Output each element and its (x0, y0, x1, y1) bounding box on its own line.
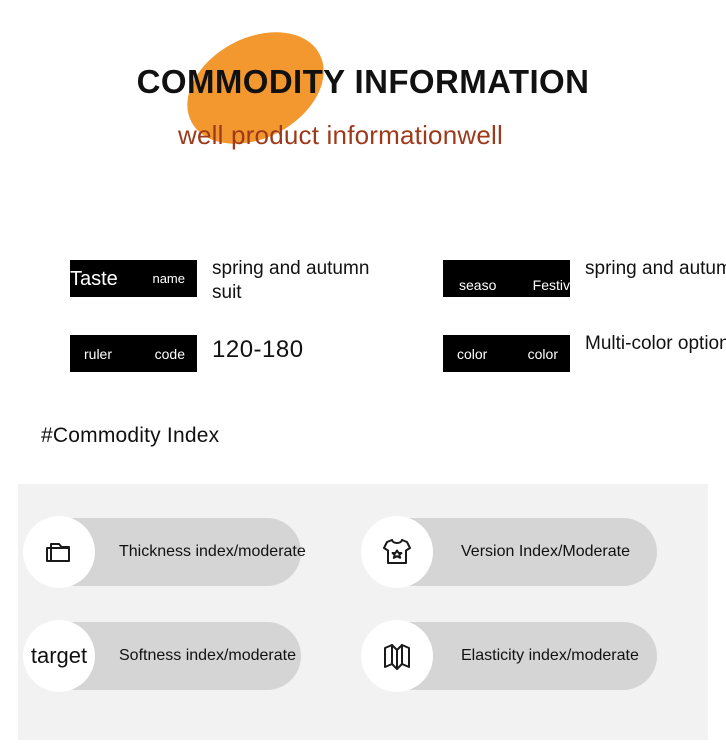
spec-tag-key: Taste (70, 269, 118, 289)
target-word-icon: target (23, 620, 95, 692)
spec-value: spring and autumn (585, 257, 726, 281)
spec-tag-key: color (457, 347, 487, 361)
commodity-index-panel: Thickness index/moderate Version Index/M… (18, 484, 708, 740)
spec-tag-key: ruler (84, 347, 112, 361)
tshirt-icon (361, 516, 433, 588)
spec-tag-box: color color (443, 335, 570, 372)
index-pill-label: Softness index/moderate (119, 647, 296, 665)
spec-tag-key: seaso (459, 278, 496, 292)
spec-value: spring and autumn suit (212, 257, 387, 305)
index-pill-version[interactable]: Version Index/Moderate (377, 518, 657, 586)
spec-value: Multi-color optional (585, 332, 726, 356)
map-icon (361, 620, 433, 692)
specification-grid: Taste name spring and autumn suit seaso … (0, 250, 726, 390)
index-pill-thickness[interactable]: Thickness index/moderate (39, 518, 301, 586)
page-title: COMMODITY INFORMATION (0, 62, 726, 102)
index-pill-label: Version Index/Moderate (461, 543, 630, 561)
spec-tag-sub: code (155, 347, 185, 361)
spec-value: 120-180 (212, 338, 387, 362)
index-pill-softness[interactable]: target Softness index/moderate (39, 622, 301, 690)
spec-tag-box: ruler code (70, 335, 197, 372)
spec-tag-sub: name (152, 272, 185, 285)
index-pill-label: Elasticity index/moderate (461, 647, 639, 665)
bag-icon (23, 516, 95, 588)
spec-tag-box: seaso Festiv (443, 260, 570, 297)
target-word-label: target (31, 645, 87, 667)
index-pill-elasticity[interactable]: Elasticity index/moderate (377, 622, 657, 690)
spec-tag-sub: Festiv (533, 278, 570, 292)
spec-tag-box: Taste name (70, 260, 197, 297)
spec-tag-sub: color (528, 347, 558, 361)
index-pill-label: Thickness index/moderate (119, 543, 306, 561)
page-subtitle: well product informationwell (178, 120, 598, 150)
commodity-index-heading: #Commodity Index (41, 424, 219, 448)
header-section: COMMODITY INFORMATION well product infor… (0, 0, 726, 210)
